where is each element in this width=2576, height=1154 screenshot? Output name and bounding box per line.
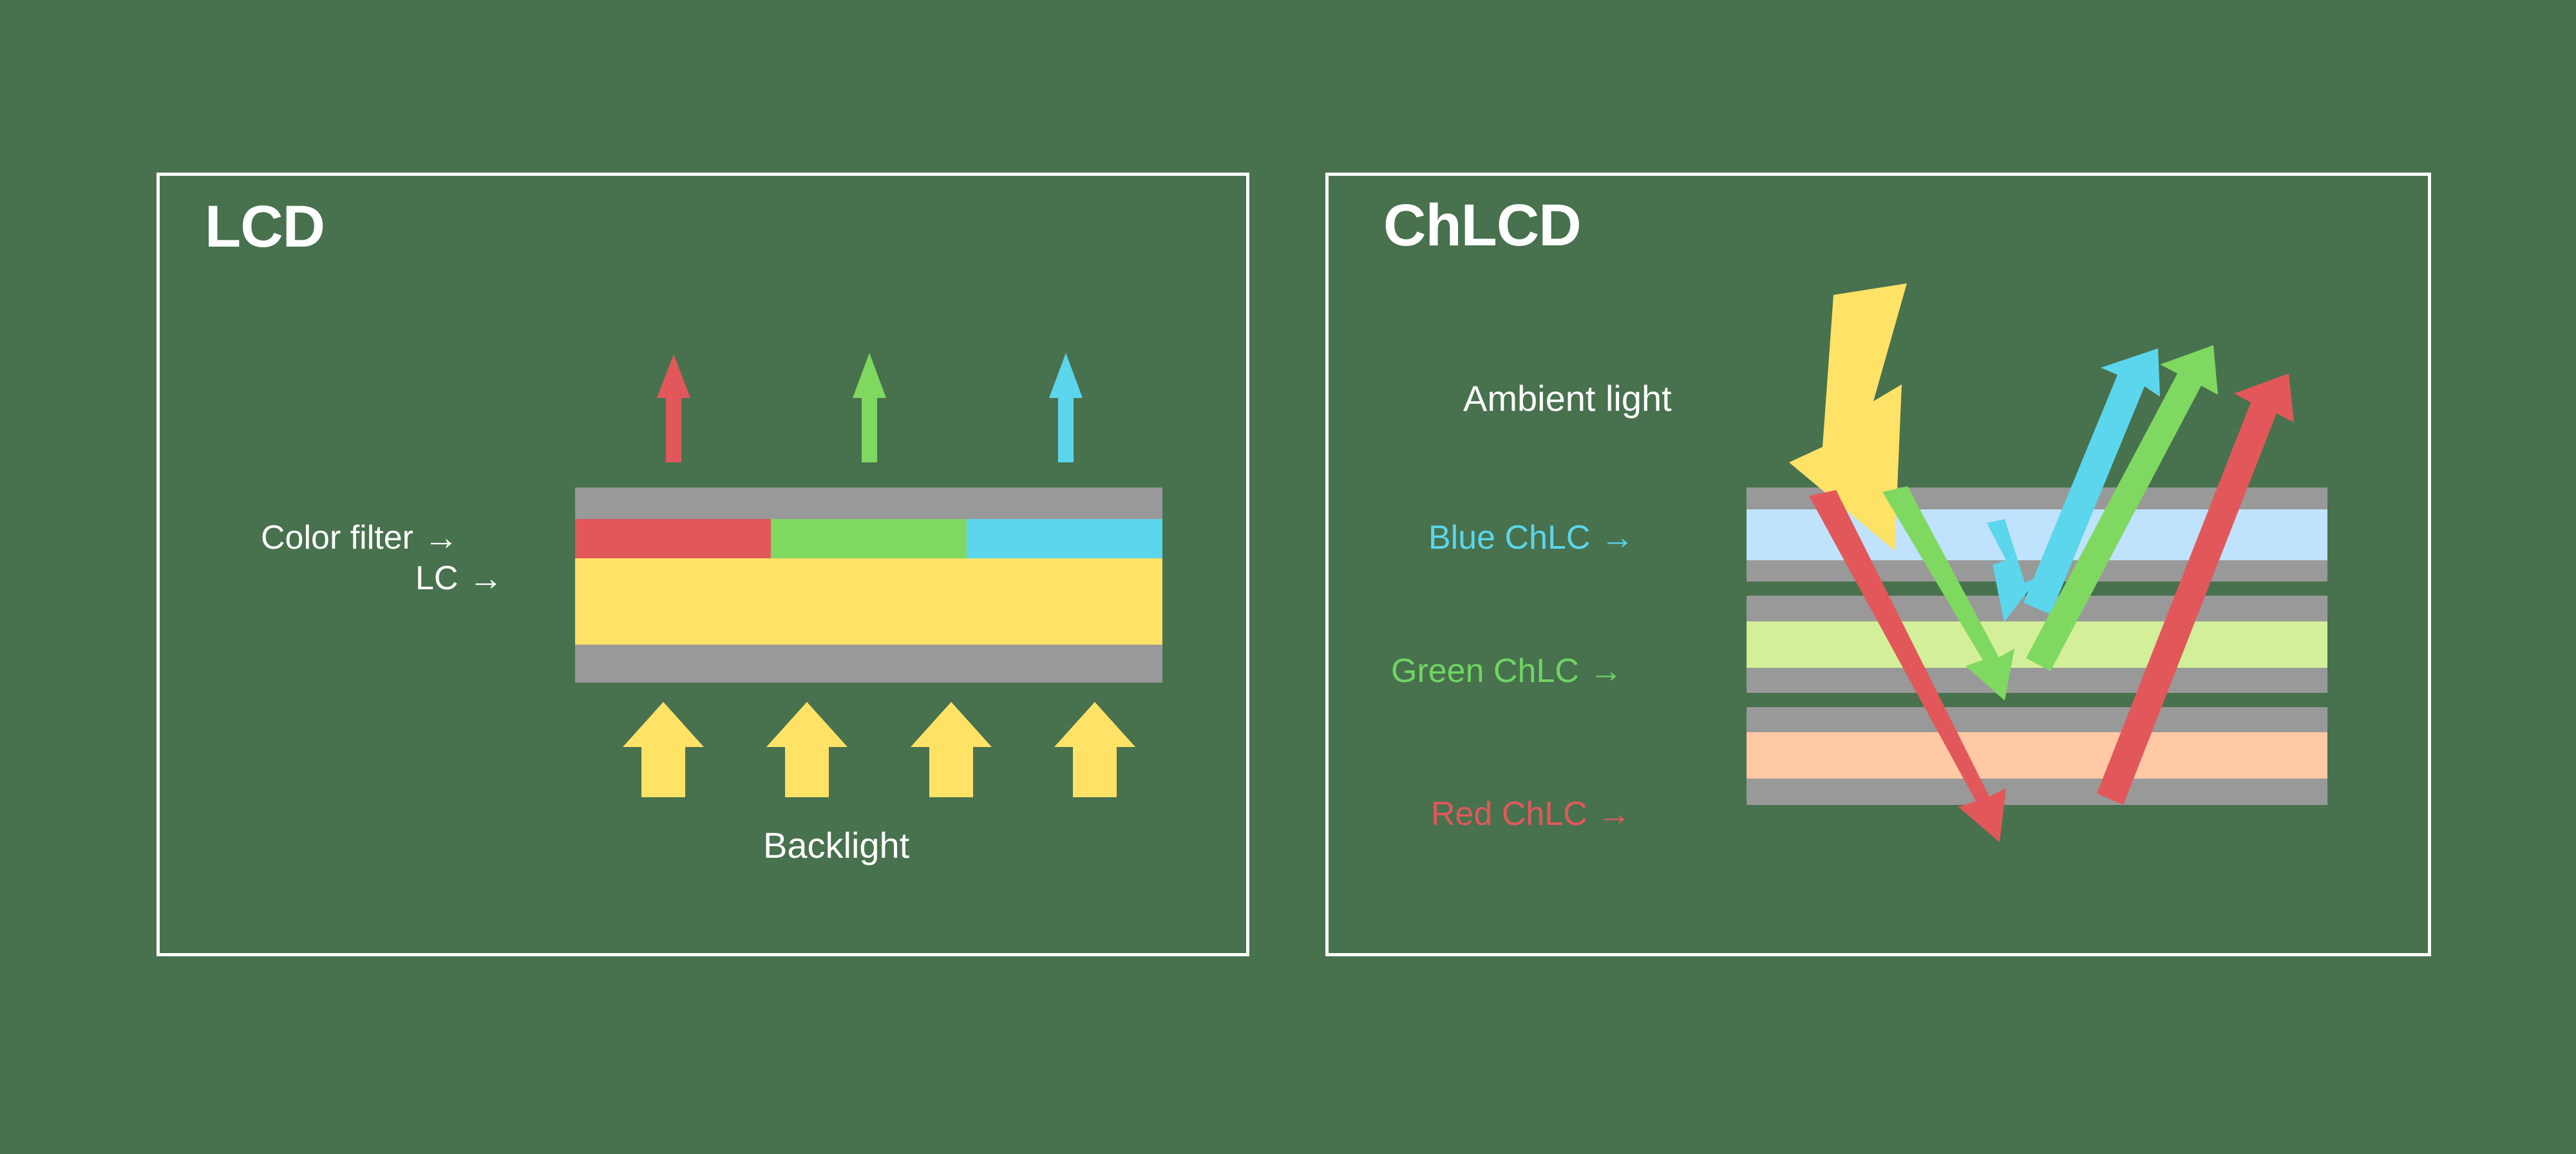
chlcd-layer-blue-substrate-top [1747, 487, 2327, 509]
chlcd-layer-green-substrate-bottom [1747, 668, 2327, 693]
callout-color-filter-label: Color filter [261, 518, 413, 557]
chlcd-layer-red-substrate-top [1747, 707, 2327, 732]
chlcd-layer-blue-chlc-core [1747, 509, 2327, 560]
lcd-layer-substrate-bottom [575, 645, 1162, 683]
arrow-right-icon: → [1589, 652, 1623, 690]
chlcd-layer-red-substrate-bottom [1747, 779, 2327, 805]
lcd-layer-color-filter-red [575, 519, 771, 558]
callout-blue-chlc: Blue ChLC → [1428, 518, 1634, 557]
arrow-right-icon: → [424, 520, 459, 555]
chlcd-layer-green-substrate-top [1747, 596, 2327, 621]
lcd-layer-liquid-crystal [575, 558, 1162, 645]
callout-blue-chlc-label: Blue ChLC [1428, 518, 1590, 557]
callout-green-chlc-label: Green ChLC [1391, 652, 1579, 690]
chlcd-layer-green-chlc-core [1747, 621, 2327, 668]
label-backlight: Backlight [763, 824, 909, 866]
callout-green-chlc: Green ChLC → [1391, 652, 1623, 690]
diagram-canvas: LCD Color filter → LC → Backlight ChLCD … [0, 0, 2576, 1154]
panel-title-lcd: LCD [205, 193, 325, 261]
callout-red-chlc-label: Red ChLC [1431, 795, 1587, 833]
arrow-right-icon: → [468, 561, 503, 596]
lcd-layer-color-filter-blue [967, 519, 1162, 558]
callout-color-filter: Color filter → [261, 518, 459, 557]
lcd-layer-color-filter-green [771, 519, 967, 558]
callout-lc-label: LC [415, 559, 458, 598]
callout-lc: LC → [415, 559, 503, 598]
callout-red-chlc: Red ChLC → [1431, 795, 1631, 833]
chlcd-layer-blue-substrate-bottom [1747, 560, 2327, 582]
chlcd-layer-red-chlc-core [1747, 732, 2327, 779]
arrow-right-icon: → [1600, 518, 1634, 557]
panel-title-chlcd: ChLCD [1383, 192, 1581, 260]
lcd-layer-substrate-top [575, 487, 1162, 519]
arrow-right-icon: → [1598, 795, 1631, 833]
label-ambient-light: Ambient light [1463, 377, 1672, 419]
